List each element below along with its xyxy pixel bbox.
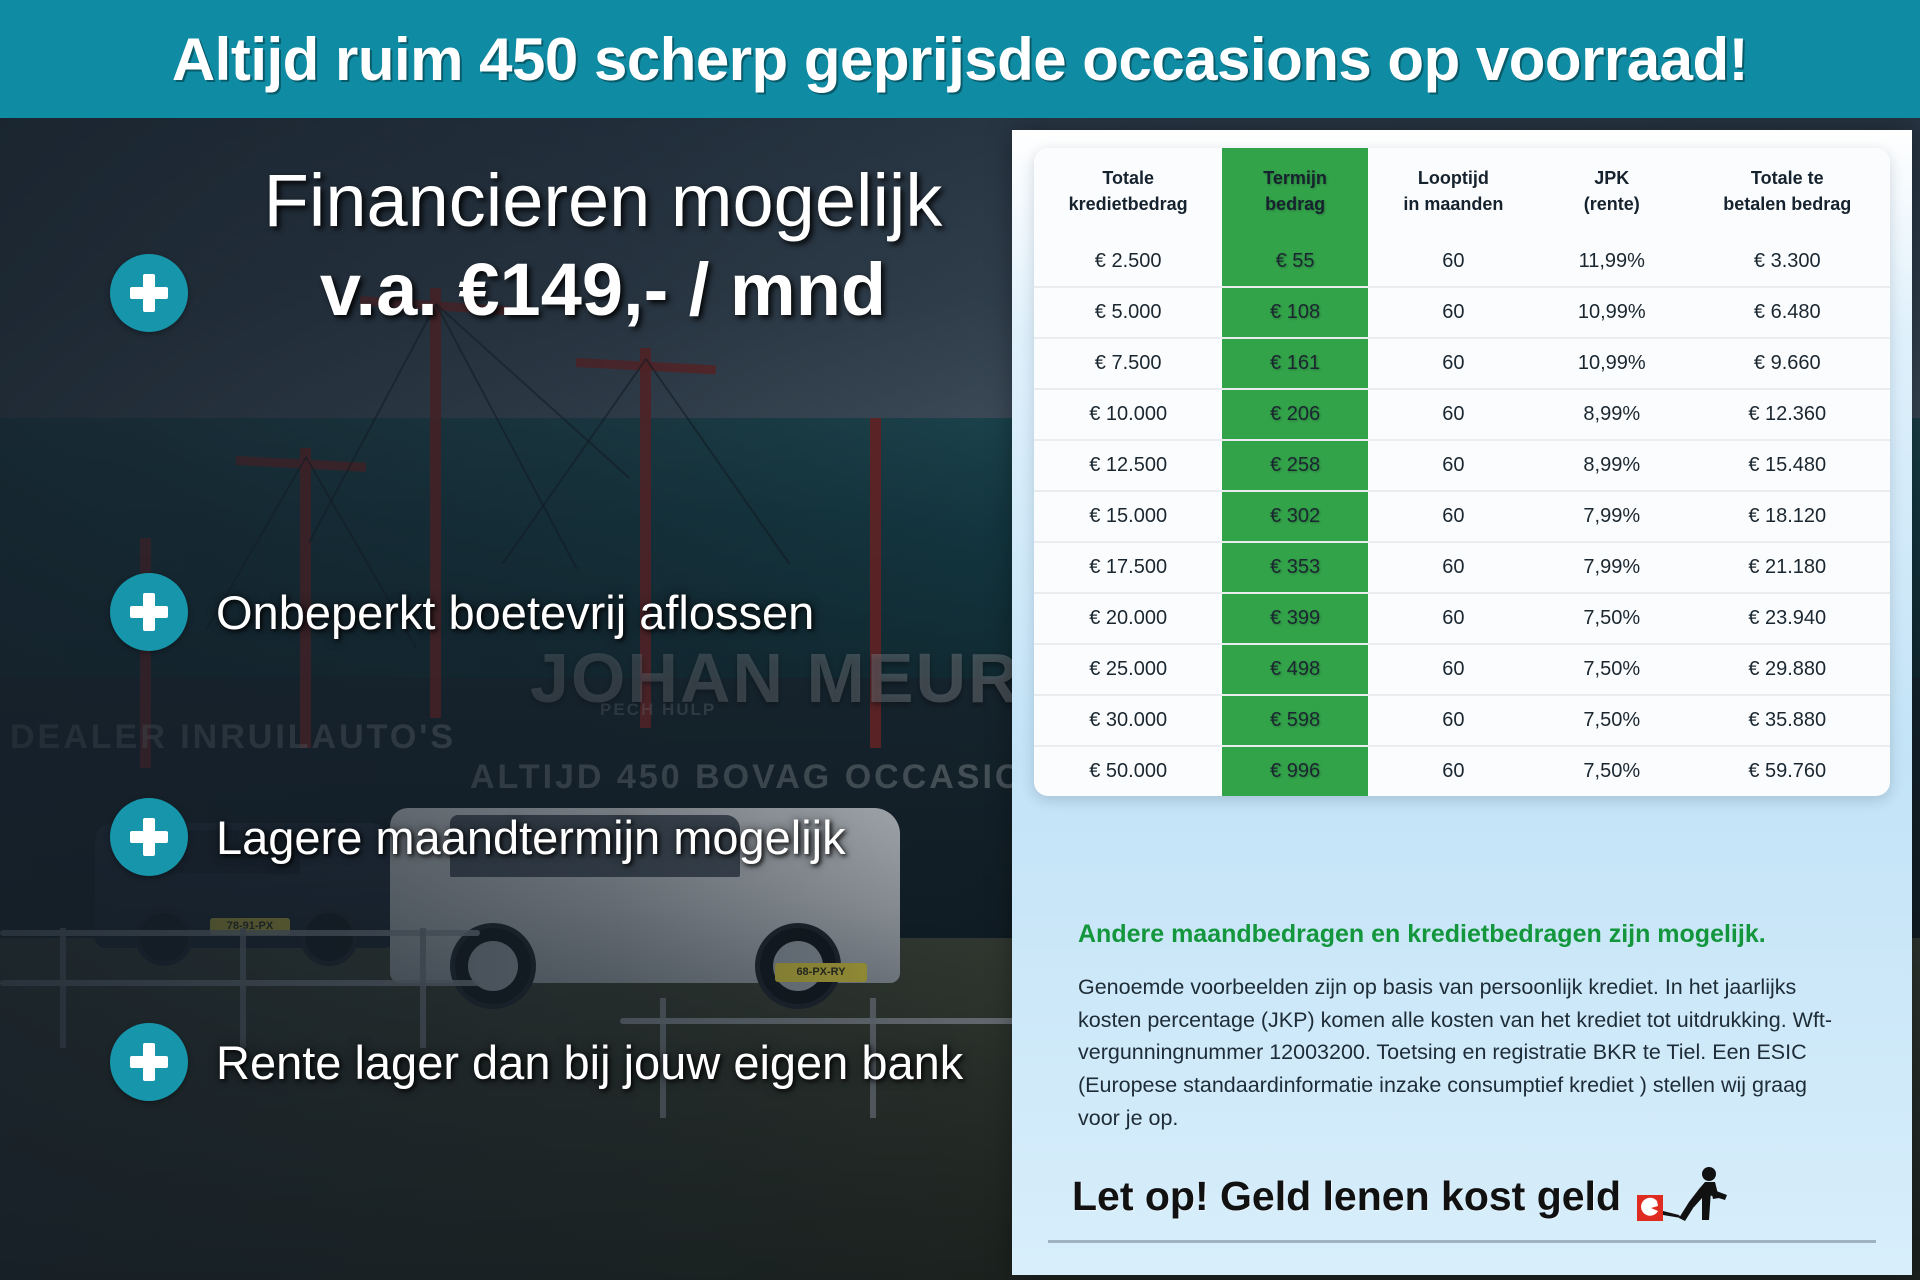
cell-term-amount: € 258	[1222, 440, 1368, 491]
cell-total-credit: € 10.000	[1034, 389, 1222, 440]
plus-icon	[110, 1023, 188, 1101]
financing-table: Totale kredietbedrag Termijn bedrag Loop…	[1034, 148, 1890, 796]
cell-duration: 60	[1368, 542, 1539, 593]
cell-total-payable: € 35.880	[1685, 695, 1890, 746]
cell-total-credit: € 7.500	[1034, 338, 1222, 389]
cell-total-credit: € 30.000	[1034, 695, 1222, 746]
financing-table-card: Totale kredietbedrag Termijn bedrag Loop…	[1034, 148, 1890, 796]
notes-block: Andere maandbedragen en kredietbedragen …	[1078, 920, 1838, 1134]
cell-total-payable: € 12.360	[1685, 389, 1890, 440]
header-line-2: kredietbedrag	[1069, 194, 1188, 214]
financing-promo-poster: Altijd ruim 450 scherp geprijsde occasio…	[0, 0, 1920, 1280]
cell-jpk: 10,99%	[1539, 287, 1685, 338]
cell-jpk: 7,50%	[1539, 746, 1685, 796]
column-header-term-amount: Termijn bedrag	[1222, 148, 1368, 237]
table-row: € 20.000€ 399607,50%€ 23.940	[1034, 593, 1890, 644]
cell-jpk: 10,99%	[1539, 338, 1685, 389]
cell-duration: 60	[1368, 389, 1539, 440]
cell-term-amount: € 598	[1222, 695, 1368, 746]
column-header-total-credit: Totale kredietbedrag	[1034, 148, 1222, 237]
cell-term-amount: € 399	[1222, 593, 1368, 644]
headline-line-1: Financieren mogelijk	[216, 158, 990, 243]
headline-plus-badge	[110, 254, 188, 332]
cell-duration: 60	[1368, 746, 1539, 796]
header-line-1: Totale	[1102, 168, 1154, 188]
header-line-2: (rente)	[1584, 194, 1640, 214]
header-line-2: betalen bedrag	[1723, 194, 1851, 214]
cell-total-credit: € 50.000	[1034, 746, 1222, 796]
table-row: € 10.000€ 206608,99%€ 12.360	[1034, 389, 1890, 440]
cell-jpk: 7,50%	[1539, 593, 1685, 644]
cell-total-credit: € 5.000	[1034, 287, 1222, 338]
cell-term-amount: € 996	[1222, 746, 1368, 796]
header-line-1: Termijn	[1263, 168, 1327, 188]
feature-item-1: Onbeperkt boetevrij aflossen	[110, 573, 814, 651]
top-banner: Altijd ruim 450 scherp geprijsde occasio…	[0, 0, 1920, 118]
cell-duration: 60	[1368, 491, 1539, 542]
cell-term-amount: € 161	[1222, 338, 1368, 389]
cell-jpk: 11,99%	[1539, 237, 1685, 287]
notes-body: Genoemde voorbeelden zijn op basis van p…	[1078, 971, 1838, 1134]
headline-line-2: v.a. €149,- / mnd	[216, 247, 990, 332]
table-row: € 50.000€ 996607,50%€ 59.760	[1034, 746, 1890, 796]
financing-info-panel: Totale kredietbedrag Termijn bedrag Loop…	[1012, 130, 1912, 1275]
cell-total-credit: € 17.500	[1034, 542, 1222, 593]
cell-jpk: 7,50%	[1539, 644, 1685, 695]
financing-table-head: Totale kredietbedrag Termijn bedrag Loop…	[1034, 148, 1890, 237]
credit-warning-text: Let op! Geld lenen kost geld	[1072, 1173, 1621, 1220]
cell-total-payable: € 9.660	[1685, 338, 1890, 389]
cell-total-credit: € 12.500	[1034, 440, 1222, 491]
cell-duration: 60	[1368, 593, 1539, 644]
cell-duration: 60	[1368, 287, 1539, 338]
cell-duration: 60	[1368, 237, 1539, 287]
cell-total-credit: € 20.000	[1034, 593, 1222, 644]
plus-icon	[110, 798, 188, 876]
table-row: € 7.500€ 1616010,99%€ 9.660	[1034, 338, 1890, 389]
table-row: € 30.000€ 598607,50%€ 35.880	[1034, 695, 1890, 746]
cell-duration: 60	[1368, 644, 1539, 695]
header-line-1: Totale te	[1751, 168, 1824, 188]
table-row: € 12.500€ 258608,99%€ 15.480	[1034, 440, 1890, 491]
banner-text: Altijd ruim 450 scherp geprijsde occasio…	[172, 25, 1748, 94]
header-line-2: in maanden	[1403, 194, 1503, 214]
table-row: € 5.000€ 1086010,99%€ 6.480	[1034, 287, 1890, 338]
cell-term-amount: € 498	[1222, 644, 1368, 695]
cell-total-credit: € 2.500	[1034, 237, 1222, 287]
table-row: € 25.000€ 498607,50%€ 29.880	[1034, 644, 1890, 695]
table-row: € 17.500€ 353607,99%€ 21.180	[1034, 542, 1890, 593]
feature-item-2: Lagere maandtermijn mogelijk	[110, 798, 846, 876]
plus-icon	[110, 573, 188, 651]
cell-total-payable: € 18.120	[1685, 491, 1890, 542]
notes-title: Andere maandbedragen en kredietbedragen …	[1078, 920, 1838, 949]
cell-term-amount: € 108	[1222, 287, 1368, 338]
feature-item-3: Rente lager dan bij jouw eigen bank	[110, 1023, 963, 1101]
cell-jpk: 7,99%	[1539, 542, 1685, 593]
cell-term-amount: € 353	[1222, 542, 1368, 593]
header-line-1: Looptijd	[1418, 168, 1489, 188]
cell-jpk: 7,99%	[1539, 491, 1685, 542]
feature-item-label: Rente lager dan bij jouw eigen bank	[216, 1035, 963, 1090]
feature-list: Financieren mogelijk v.a. €149,- / mnd O…	[0, 118, 1020, 1280]
financing-table-body: € 2.500€ 556011,99%€ 3.300€ 5.000€ 10860…	[1034, 237, 1890, 796]
feature-item-label: Onbeperkt boetevrij aflossen	[216, 585, 814, 640]
table-row: € 15.000€ 302607,99%€ 18.120	[1034, 491, 1890, 542]
panel-divider	[1048, 1240, 1876, 1243]
column-header-total-payable: Totale te betalen bedrag	[1685, 148, 1890, 237]
plus-icon	[110, 254, 188, 332]
cell-total-payable: € 21.180	[1685, 542, 1890, 593]
cell-term-amount: € 302	[1222, 491, 1368, 542]
table-row: € 2.500€ 556011,99%€ 3.300	[1034, 237, 1890, 287]
table-header-row: Totale kredietbedrag Termijn bedrag Loop…	[1034, 148, 1890, 237]
cell-term-amount: € 55	[1222, 237, 1368, 287]
feature-item-label: Lagere maandtermijn mogelijk	[216, 810, 846, 865]
cell-jpk: 8,99%	[1539, 389, 1685, 440]
header-line-2: bedrag	[1265, 194, 1325, 214]
cell-jpk: 7,50%	[1539, 695, 1685, 746]
cell-total-payable: € 3.300	[1685, 237, 1890, 287]
cell-total-payable: € 6.480	[1685, 287, 1890, 338]
column-header-jpk: JPK (rente)	[1539, 148, 1685, 237]
cell-total-payable: € 29.880	[1685, 644, 1890, 695]
column-header-duration: Looptijd in maanden	[1368, 148, 1539, 237]
cell-duration: 60	[1368, 338, 1539, 389]
cell-jpk: 8,99%	[1539, 440, 1685, 491]
cell-duration: 60	[1368, 440, 1539, 491]
cell-duration: 60	[1368, 695, 1539, 746]
headline-block: Financieren mogelijk v.a. €149,- / mnd	[110, 158, 990, 332]
cell-total-payable: € 15.480	[1685, 440, 1890, 491]
header-line-1: JPK	[1594, 168, 1629, 188]
cell-total-credit: € 15.000	[1034, 491, 1222, 542]
cell-total-credit: € 25.000	[1034, 644, 1222, 695]
credit-warning: Let op! Geld lenen kost geld	[1072, 1165, 1731, 1227]
afm-walking-man-icon	[1635, 1165, 1731, 1227]
cell-total-payable: € 59.760	[1685, 746, 1890, 796]
cell-term-amount: € 206	[1222, 389, 1368, 440]
cell-total-payable: € 23.940	[1685, 593, 1890, 644]
